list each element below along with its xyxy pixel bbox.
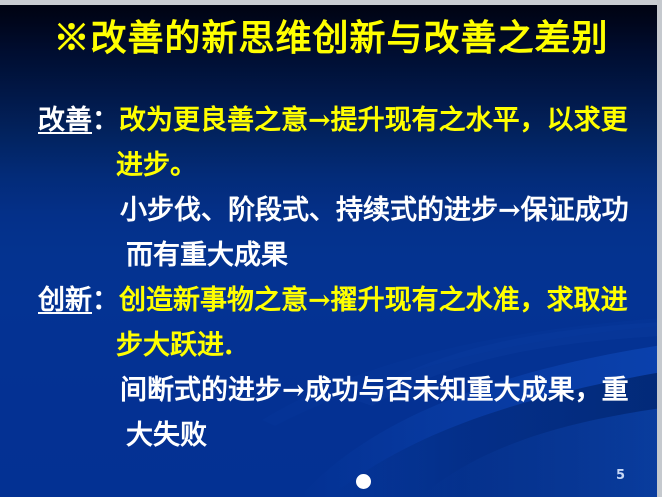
- body-line: 间断式的进步→成功与否未知重大成果，重: [38, 368, 650, 413]
- body-line: 而有重大成果: [38, 233, 650, 278]
- entry-text: 改为更良善之意→提升现有之水平，以求更: [119, 105, 628, 136]
- entry-text: 大失败: [126, 420, 207, 451]
- slide-body: 改善：改为更良善之意→提升现有之水平，以求更 进步。 小步伐、阶段式、持续式的进…: [38, 98, 650, 458]
- entry-separator: ：: [92, 285, 119, 316]
- entry-text: 间断式的进步→成功与否未知重大成果，重: [120, 375, 629, 406]
- entry-label-gaishan: 改善: [38, 105, 92, 136]
- entry-text: 小步伐、阶段式、持续式的进步→保证成功: [120, 195, 629, 226]
- body-line: 改善：改为更良善之意→提升现有之水平，以求更: [38, 98, 650, 143]
- body-line: 创新：创造新事物之意→擢升现有之水准，求取进: [38, 278, 650, 323]
- body-line: 小步伐、阶段式、持续式的进步→保证成功: [38, 188, 650, 233]
- entry-text: 创造新事物之意→擢升现有之水准，求取进: [119, 285, 628, 316]
- page-number: 5: [616, 468, 625, 483]
- window-top-border: [0, 0, 662, 5]
- entry-label-chuangxin: 创新: [38, 285, 92, 316]
- entry-text: 步大跃进.: [116, 330, 233, 361]
- entry-separator: ：: [92, 105, 119, 136]
- window-right-border: [657, 0, 662, 497]
- slide-bullet-marker-dot: [356, 474, 371, 489]
- entry-text: 而有重大成果: [126, 240, 288, 271]
- entry-text: 进步。: [116, 150, 197, 181]
- body-line: 进步。: [38, 143, 650, 188]
- body-line: 大失败: [38, 413, 650, 458]
- presentation-slide: ※改善的新思维创新与改善之差别 改善：改为更良善之意→提升现有之水平，以求更 进…: [0, 0, 662, 497]
- body-line: 步大跃进.: [38, 323, 650, 368]
- slide-title: ※改善的新思维创新与改善之差别: [0, 16, 662, 60]
